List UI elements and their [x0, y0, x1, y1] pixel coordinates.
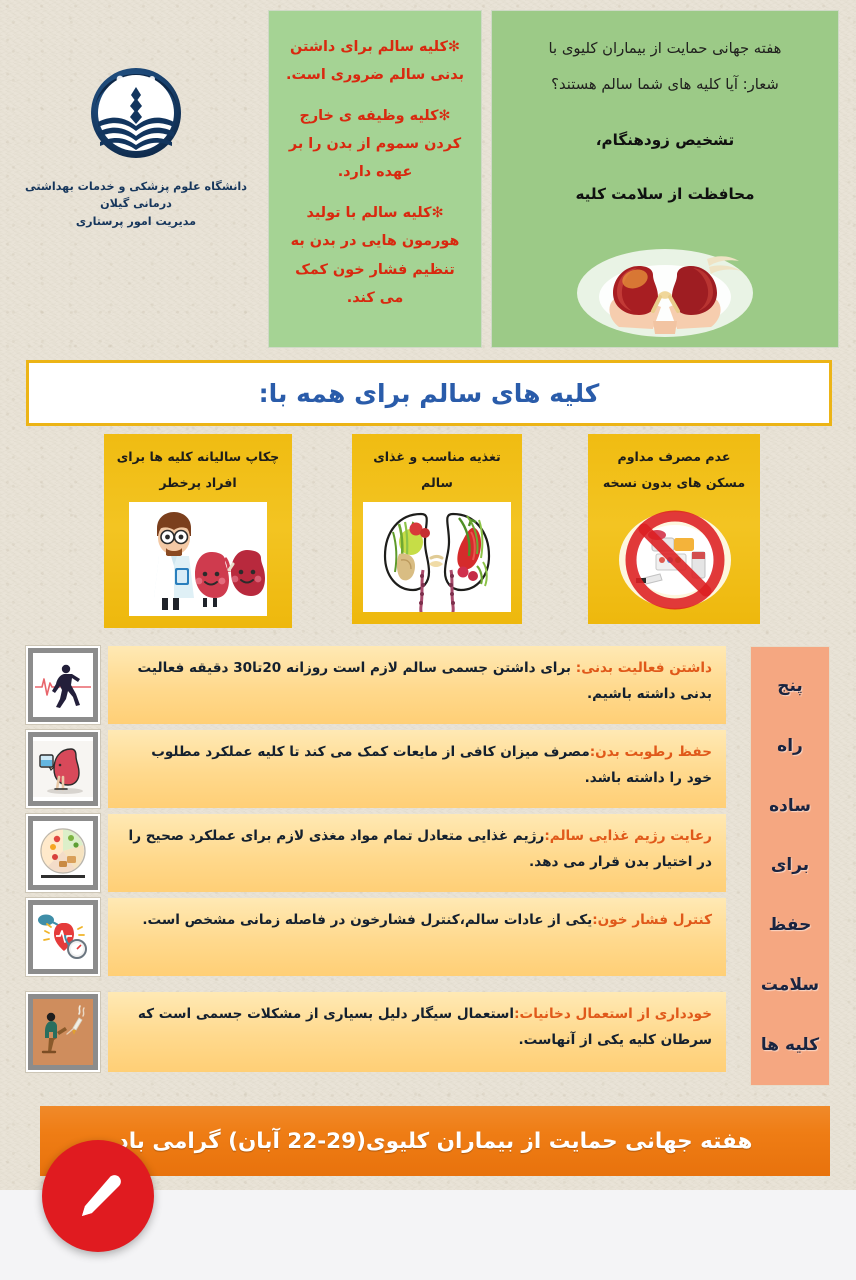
pencil-edit-icon	[70, 1168, 126, 1224]
five-ways-rail: پنج راه ساده برای حفظ سلامت کلیه ها	[750, 646, 830, 1086]
tip-term: کنترل فشار خون:	[592, 912, 712, 928]
tip-term: خودداری از استعمال دخانیات:	[514, 1006, 712, 1022]
kidneys-in-hands-icon	[557, 235, 773, 339]
tip-term: رعایت رژیم غذایی سالم:	[544, 828, 712, 844]
tip-text: رعایت رژیم غذایی سالم:رژیم غذایی متعادل …	[108, 814, 726, 892]
balanced-food-plate-icon	[33, 821, 93, 885]
tip-row: کنترل فشار خون:یکی از عادات سالم،کنترل ف…	[26, 898, 726, 976]
card-title: تغذیه مناسب و غذای سالم	[362, 444, 512, 496]
tip-term: حفظ رطوبت بدن:	[590, 744, 712, 760]
fact-item: ✻کلیه سالم با تولید هورمون هایی در بدن ب…	[283, 199, 467, 311]
running-person-ecg-icon	[33, 653, 93, 717]
tip-row: خودداری از استعمال دخانیات:استعمال سیگار…	[26, 992, 726, 1072]
organization-logo-block: دانشگاه علوم پزشکی و خدمات بهداشتی درمان…	[8, 60, 264, 230]
kidney-facts-panel: ✻کلیه سالم برای داشتن بدنی سالم ضروری اس…	[268, 10, 482, 348]
card-annual-checkup[interactable]: چکاپ سالیانه کلیه ها برای افراد پرخطر	[104, 434, 292, 628]
tip-thumbnail[interactable]	[26, 992, 100, 1072]
tip-thumbnail[interactable]	[26, 814, 100, 892]
rail-word: پنج	[777, 678, 803, 695]
card-title: چکاپ سالیانه کلیه ها برای افراد پرخطر	[114, 444, 282, 496]
slogan-emphasis-1: تشخیص زودهنگام،	[508, 122, 822, 158]
page-title: کلیه های سالم برای همه با:	[259, 379, 600, 408]
rail-word: راه	[777, 738, 803, 755]
rail-word: برای	[771, 857, 809, 874]
organization-name-line1: دانشگاه علوم پزشکی و خدمات بهداشتی درمان…	[8, 178, 264, 213]
fact-item: ✻کلیه سالم برای داشتن بدنی سالم ضروری اس…	[283, 33, 467, 89]
kick-cigarette-icon	[33, 999, 93, 1065]
tip-term: داشتن فعالیت بدنی:	[576, 660, 712, 676]
edit-fab-button[interactable]	[42, 1140, 154, 1252]
organization-name-line2: مدیریت امور پرستاری	[8, 213, 264, 230]
card-title: عدم مصرف مداوم مسکن های بدون نسخه	[598, 444, 750, 496]
tip-text: داشتن فعالیت بدنی: برای داشتن جسمی سالم …	[108, 646, 726, 724]
rail-word: سلامت	[761, 977, 819, 994]
slogan-line-1: هفته جهانی حمایت از بیماران کلیوی با	[508, 31, 822, 67]
tip-body: یکی از عادات سالم،کنترل فشارخون در فاصله…	[142, 912, 592, 928]
kidneys-with-vegetables-icon	[363, 502, 511, 612]
tip-text: کنترل فشار خون:یکی از عادات سالم،کنترل ف…	[108, 898, 726, 976]
kidney-drinking-water-icon	[33, 737, 93, 801]
tip-thumbnail[interactable]	[26, 730, 100, 808]
slogan-emphasis-2: محافظت از سلامت کلیه	[508, 176, 822, 212]
main-title-banner: کلیه های سالم برای همه با:	[26, 360, 832, 426]
tip-row: رعایت رژیم غذایی سالم:رژیم غذایی متعادل …	[26, 814, 726, 892]
rail-word: حفظ	[769, 917, 812, 934]
tip-thumbnail[interactable]	[26, 646, 100, 724]
tip-row: داشتن فعالیت بدنی: برای داشتن جسمی سالم …	[26, 646, 726, 724]
tip-text: حفظ رطوبت بدن:مصرف میزان کافی از مایعات …	[108, 730, 726, 808]
campaign-slogan-panel: هفته جهانی حمایت از بیماران کلیوی با شعا…	[491, 10, 839, 348]
rail-word: ساده	[769, 798, 811, 815]
bottom-banner-text: هفته جهانی حمایت از بیماران کلیوی(29-22 …	[118, 1129, 753, 1154]
blood-pressure-monitor-icon	[33, 905, 93, 969]
card-healthy-nutrition[interactable]: تغذیه مناسب و غذای سالم	[352, 434, 522, 624]
university-seal-icon	[84, 60, 188, 164]
slogan-line-2: شعار: آیا کلیه های شما سالم هستند؟	[508, 67, 822, 103]
no-medication-prohibition-icon	[598, 502, 750, 612]
tip-row: حفظ رطوبت بدن:مصرف میزان کافی از مایعات …	[26, 730, 726, 808]
card-avoid-painkillers[interactable]: عدم مصرف مداوم مسکن های بدون نسخه	[588, 434, 760, 624]
tip-thumbnail[interactable]	[26, 898, 100, 976]
doctor-with-kidneys-icon	[129, 502, 267, 616]
fact-item: ✻کلیه وظیفه ی خارج کردن سموم از بدن را ب…	[283, 102, 467, 186]
poster-canvas: دانشگاه علوم پزشکی و خدمات بهداشتی درمان…	[0, 0, 856, 1190]
bottom-campaign-banner: هفته جهانی حمایت از بیماران کلیوی(29-22 …	[40, 1106, 830, 1176]
rail-word: کلیه ها	[761, 1037, 819, 1054]
tip-text: خودداری از استعمال دخانیات:استعمال سیگار…	[108, 992, 726, 1072]
